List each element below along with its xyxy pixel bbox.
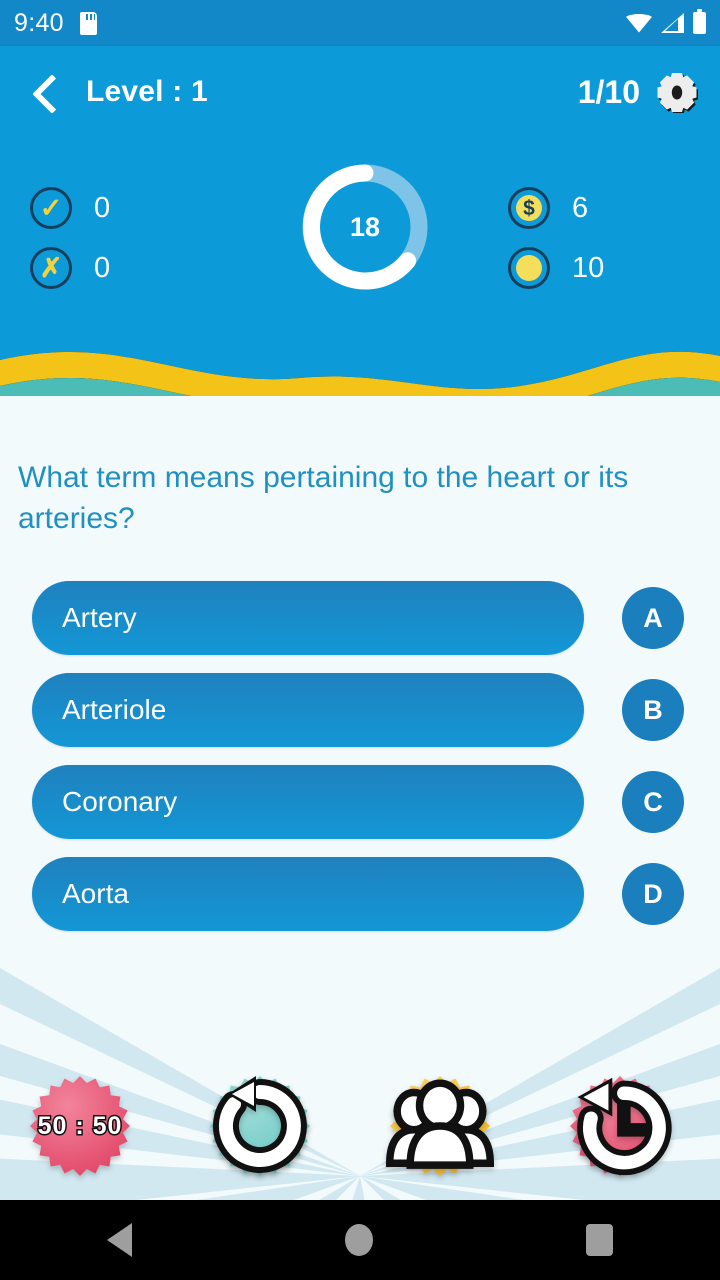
option-d[interactable]: Aorta — [32, 857, 584, 931]
question-counter: 1/10 — [578, 74, 640, 111]
option-d-letter-badge[interactable]: D — [622, 863, 684, 925]
lifeline-fifty-fifty-face: 50 : 50 — [26, 1072, 134, 1180]
score-group: ✓ 0 ✗ 0 — [30, 184, 110, 292]
currency-group: $ 6 10 — [508, 184, 604, 292]
option-d-label: Aorta — [62, 878, 129, 910]
lifeline-restart[interactable] — [206, 1072, 314, 1180]
audience-icon — [386, 1072, 494, 1180]
quiz-body: What term means pertaining to the heart … — [0, 396, 720, 1200]
option-c-letter-badge[interactable]: C — [622, 771, 684, 833]
lifeline-fifty-fifty-label: 50 : 50 — [38, 1112, 123, 1141]
extra-time-icon — [566, 1072, 674, 1180]
option-a-label: Artery — [62, 602, 137, 634]
sd-card-icon — [80, 12, 97, 35]
lifeline-fifty-fifty[interactable]: 50 : 50 — [26, 1072, 134, 1180]
countdown-timer: 18 — [294, 156, 436, 298]
status-bar-left: 9:40 — [14, 9, 97, 38]
restart-icon — [206, 1072, 314, 1180]
option-row-b: Arteriole B — [0, 664, 720, 756]
timer-value: 18 — [294, 156, 436, 298]
option-b-label: Arteriole — [62, 694, 166, 726]
clock-time: 9:40 — [14, 9, 64, 38]
option-c-label: Coronary — [62, 786, 177, 818]
nav-recents-icon[interactable] — [586, 1224, 613, 1256]
correct-score-value: 0 — [94, 192, 110, 225]
page-title: Level : 1 — [86, 75, 208, 109]
stats-panel: ✓ 0 ✗ 0 18 $ 6 — [0, 138, 720, 344]
app-header: Level : 1 1/10 — [0, 46, 720, 138]
option-c[interactable]: Coronary — [32, 765, 584, 839]
option-b-letter-badge[interactable]: B — [622, 679, 684, 741]
money-value: 6 — [572, 192, 588, 225]
answer-options: Artery A Arteriole B Coronary C Aorta — [0, 572, 720, 940]
coins-value: 10 — [572, 252, 604, 285]
wifi-icon — [626, 14, 652, 33]
android-nav-bar — [0, 1200, 720, 1280]
wrong-score-row: ✗ 0 — [30, 244, 110, 292]
gear-icon[interactable] — [656, 71, 698, 113]
header-right-group: 1/10 — [578, 71, 698, 113]
lifeline-bar: 50 : 50 — [0, 1072, 720, 1192]
nav-home-icon[interactable] — [345, 1224, 373, 1256]
coin-symbol — [516, 255, 542, 281]
dollar-coin-icon: $ — [508, 187, 550, 229]
battery-icon — [693, 12, 706, 34]
option-a[interactable]: Artery — [32, 581, 584, 655]
check-circle-icon: ✓ — [30, 187, 72, 229]
lifeline-extra-time[interactable] — [566, 1072, 674, 1180]
money-row: $ 6 — [508, 184, 604, 232]
option-b[interactable]: Arteriole — [32, 673, 584, 747]
option-row-c: Coronary C — [0, 756, 720, 848]
status-bar: 9:40 — [0, 0, 720, 46]
correct-score-row: ✓ 0 — [30, 184, 110, 232]
option-row-a: Artery A — [0, 572, 720, 664]
status-bar-right — [626, 12, 706, 34]
coins-row: 10 — [508, 244, 604, 292]
wrong-score-value: 0 — [94, 252, 110, 285]
option-row-d: Aorta D — [0, 848, 720, 940]
cross-circle-icon: ✗ — [30, 247, 72, 289]
option-a-letter-badge[interactable]: A — [622, 587, 684, 649]
lifeline-audience[interactable] — [386, 1072, 494, 1180]
nav-back-icon[interactable] — [107, 1223, 132, 1257]
quiz-screen: 9:40 Level : 1 1/10 — [0, 0, 720, 1280]
cellular-signal-icon — [661, 13, 684, 33]
question-text: What term means pertaining to the heart … — [18, 458, 686, 539]
coin-icon — [508, 247, 550, 289]
back-chevron-icon[interactable] — [22, 69, 68, 115]
dollar-symbol: $ — [516, 195, 542, 221]
